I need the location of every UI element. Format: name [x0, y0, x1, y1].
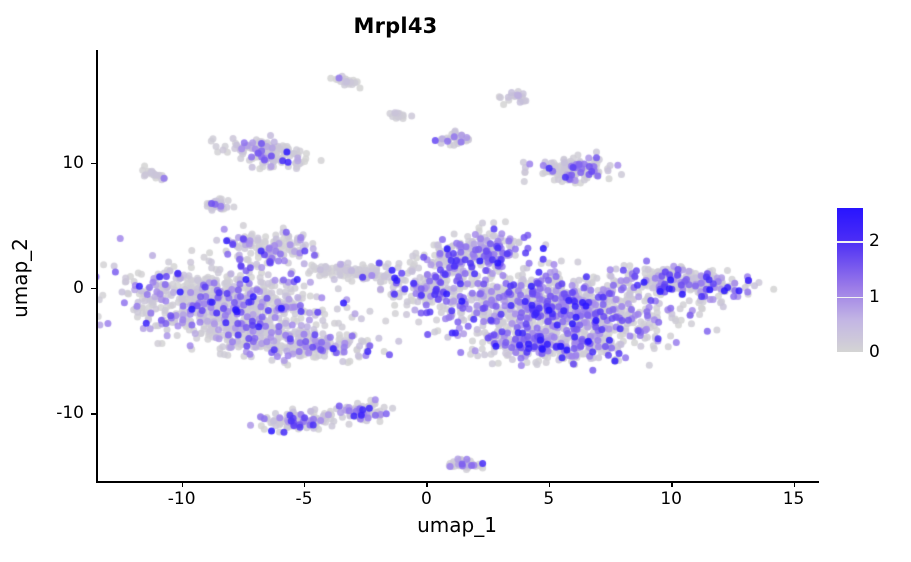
x-tick-mark: [182, 482, 183, 487]
y-tick-mark: [91, 163, 96, 164]
colorbar-tick-label: 2: [869, 231, 880, 251]
colorbar-tick-label: 1: [869, 287, 880, 307]
x-tick-label: 0: [421, 489, 432, 509]
x-tick-mark: [549, 482, 550, 487]
x-axis-label: umap_1: [96, 513, 818, 537]
y-axis-label: umap_2: [8, 198, 32, 358]
page-title: Mrpl43: [0, 14, 911, 38]
y-tick-label: 0: [73, 278, 84, 298]
x-tick-label: 15: [783, 489, 805, 509]
x-tick-label: -5: [296, 489, 313, 509]
umap-feature-plot: Mrpl43 -10-5051015 -10010 umap_1 umap_2 …: [0, 0, 911, 562]
colorbar-tick-labels: 210: [837, 208, 911, 352]
x-tick-label: -10: [168, 489, 196, 509]
x-tick-mark: [426, 482, 427, 487]
y-tick-label: 10: [62, 153, 84, 173]
y-tick-mark: [91, 288, 96, 289]
y-tick-mark: [91, 413, 96, 414]
x-tick-label: 5: [543, 489, 554, 509]
x-tick-label: 10: [660, 489, 682, 509]
x-axis-spine: [96, 481, 819, 483]
x-tick-mark: [304, 482, 305, 487]
x-tick-mark: [794, 482, 795, 487]
colorbar-tick-label: 0: [869, 342, 880, 362]
y-axis-spine: [96, 50, 98, 482]
scatter-canvas: [96, 50, 818, 482]
x-tick-mark: [671, 482, 672, 487]
y-tick-label: -10: [56, 403, 84, 423]
